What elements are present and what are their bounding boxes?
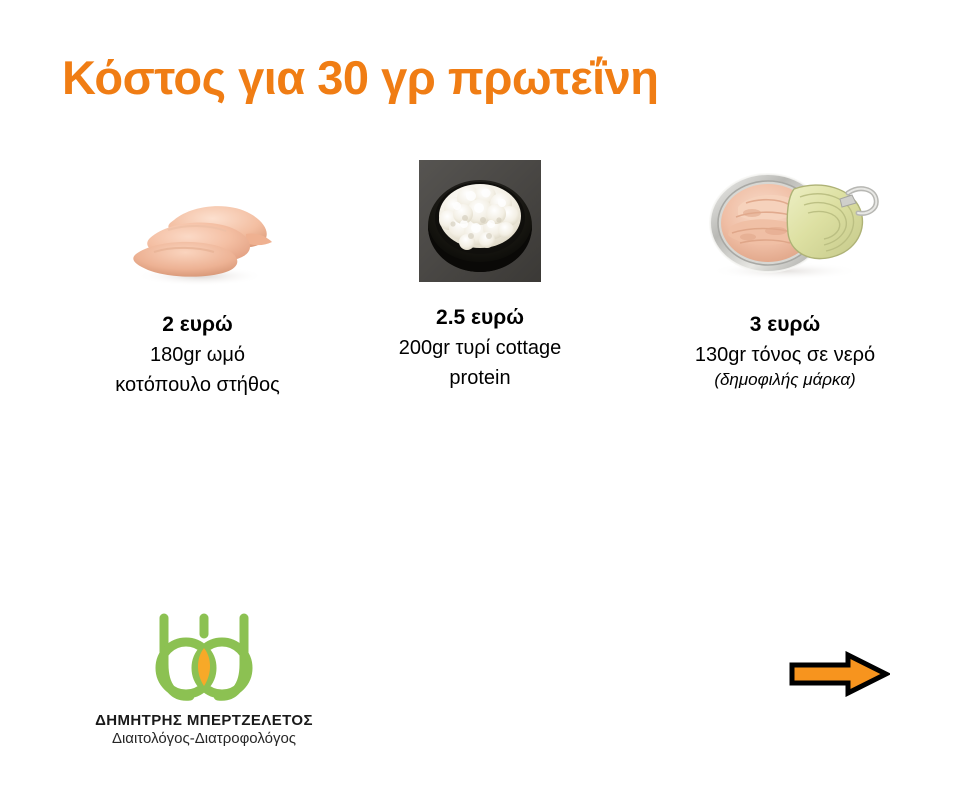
product-price: 3 ευρώ [640, 312, 930, 338]
product-description-line2: κοτόπουλο στήθος [60, 372, 335, 398]
product-note: (δημοφιλής μάρκα) [640, 369, 930, 391]
product-description-line1: 180gr ωμό [60, 342, 335, 368]
product-price: 2 ευρώ [60, 312, 335, 338]
page-title: Κόστος για 30 γρ πρωτεΐνη [62, 52, 922, 104]
canned-tuna-photo [690, 155, 880, 285]
raw-chicken-breast-photo [114, 190, 282, 290]
logo-brand-subtitle: Διαιτολόγος-Διατροφολόγος [88, 730, 320, 747]
cottage-cheese-bowl-photo [419, 160, 541, 282]
product-item-tuna: 3 ευρώ 130gr τόνος σε νερό (δημοφιλής μά… [640, 155, 930, 391]
product-item-cottage-cheese: 2.5 ευρώ 200gr τυρί cottage protein [345, 160, 615, 391]
next-arrow-button[interactable] [788, 651, 890, 697]
bd-monogram-icon [145, 608, 263, 706]
slide-canvas: Κόστος για 30 γρ πρωτεΐνη [0, 0, 980, 788]
product-description-line1: 200gr τυρί cottage [345, 335, 615, 361]
product-description-line1: 130gr τόνος σε νερό [640, 342, 930, 368]
brand-logo: ΔΗΜΗΤΡΗΣ ΜΠΕΡΤΖΕΛΕΤΟΣ Διαιτολόγος-Διατρο… [88, 608, 320, 747]
product-item-chicken: 2 ευρώ 180gr ωμό κοτόπουλο στήθος [60, 190, 335, 398]
product-price: 2.5 ευρώ [345, 305, 615, 331]
logo-brand-name: ΔΗΜΗΤΡΗΣ ΜΠΕΡΤΖΕΛΕΤΟΣ [88, 712, 320, 729]
next-arrow-icon[interactable] [788, 651, 890, 697]
product-description-line2: protein [345, 365, 615, 391]
